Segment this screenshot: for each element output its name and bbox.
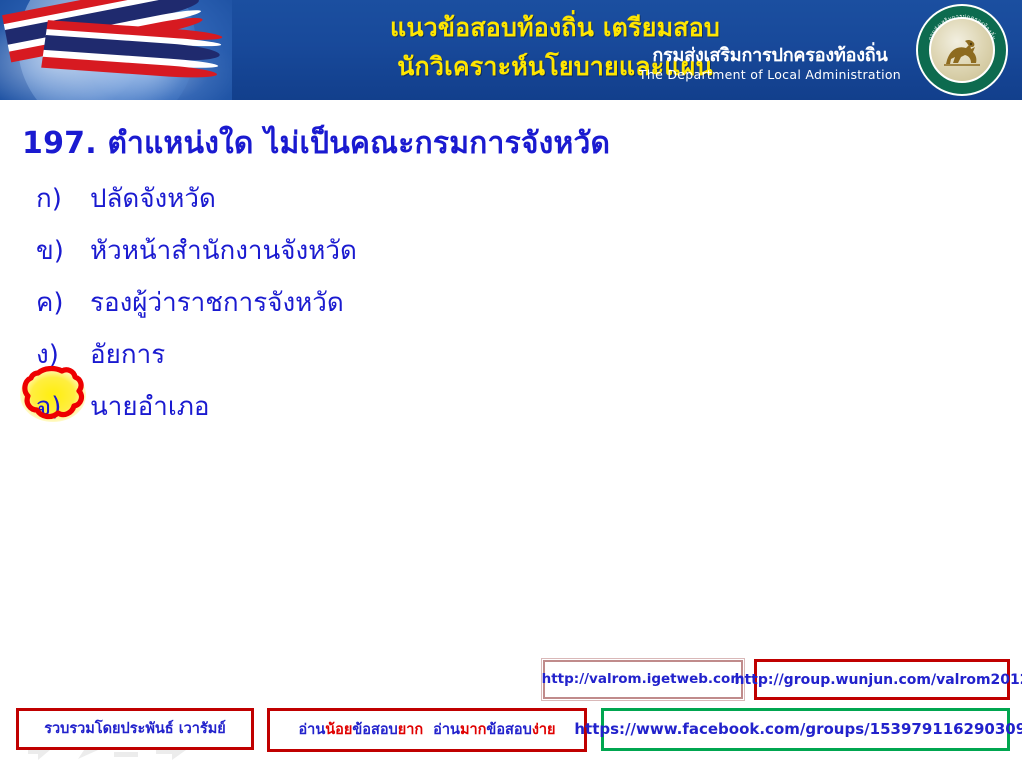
author-credit-text: รวบรวมโดยประพันธ์ เวารัมย์ bbox=[44, 722, 226, 737]
option-label-cho-text: จ) bbox=[36, 392, 61, 422]
banner-title-line1: แนวข้อสอบท้องถิ่น เตรียมสอบ bbox=[232, 8, 878, 47]
option-row-kho2[interactable]: ค) รองผู้ว่าราชการจังหวัด bbox=[36, 282, 736, 334]
motto-seg-5: อ่าน bbox=[433, 722, 460, 738]
option-label-ka: ก) bbox=[36, 178, 90, 219]
option-label-kho2: ค) bbox=[36, 282, 90, 323]
motto-seg-6: มาก bbox=[460, 722, 486, 738]
motto-text: อ่านน้อยข้อสอบยากอ่านมากข้อสอบง่าย bbox=[298, 723, 555, 738]
motto-seg-8: ง่าย bbox=[532, 722, 556, 738]
motto-seg-2: น้อย bbox=[325, 722, 352, 738]
department-label: กรมส่งเสริมการปกครองท้องถิ่น The Departm… bbox=[620, 44, 920, 83]
option-row-kho[interactable]: ข) หัวหน้าสำนักงานจังหวัด bbox=[36, 230, 736, 282]
option-text-ka: ปลัดจังหวัด bbox=[90, 178, 216, 219]
wunjun-group-url: http://group.wunjun.com/valrom2012 bbox=[734, 673, 1022, 687]
option-text-kho2: รองผู้ว่าราชการจังหวัด bbox=[90, 282, 344, 323]
slide-canvas: แนวข้อสอบท้องถิ่น เตรียมสอบ นักวิเคราะห์… bbox=[0, 0, 1022, 767]
department-name-thai: กรมส่งเสริมการปกครองท้องถิ่น bbox=[620, 44, 920, 67]
facebook-group-url: https://www.facebook.com/groups/15397911… bbox=[574, 722, 1022, 737]
motto-seg-4: ยาก bbox=[398, 722, 423, 738]
valrom-website-box[interactable]: http://valrom.igetweb.com bbox=[543, 660, 743, 699]
motto-box: อ่านน้อยข้อสอบยากอ่านมากข้อสอบง่าย bbox=[267, 708, 587, 752]
department-seal-icon: กรมส่งเสริมการปกครองท้องถิ่น DEPARTMENT … bbox=[916, 4, 1008, 96]
motto-seg-3: ข้อสอบ bbox=[352, 722, 397, 738]
option-text-ngo: อัยการ bbox=[90, 334, 165, 375]
option-row-cho[interactable]: จ) นายอำเภอ bbox=[36, 386, 736, 438]
wunjun-group-box[interactable]: http://group.wunjun.com/valrom2012 bbox=[754, 659, 1010, 700]
motto-seg-1: อ่าน bbox=[298, 722, 325, 738]
author-credit-box: รวบรวมโดยประพันธ์ เวารัมย์ bbox=[16, 708, 254, 750]
department-name-english: The Department of Local Administration bbox=[620, 67, 920, 83]
option-text-cho: นายอำเภอ bbox=[90, 386, 209, 427]
options-list: ก) ปลัดจังหวัด ข) หัวหน้าสำนักงานจังหวัด… bbox=[36, 178, 736, 438]
option-row-ngo[interactable]: ง) อัยการ bbox=[36, 334, 736, 386]
facebook-group-box[interactable]: https://www.facebook.com/groups/15397911… bbox=[601, 708, 1010, 751]
option-text-kho: หัวหน้าสำนักงานจังหวัด bbox=[90, 230, 357, 271]
question-title: 197. ตำแหน่งใด ไม่เป็นคณะกรมการจังหวัด bbox=[22, 120, 610, 167]
option-row-ka[interactable]: ก) ปลัดจังหวัด bbox=[36, 178, 736, 230]
option-label-cho: จ) bbox=[36, 386, 90, 427]
header-banner: แนวข้อสอบท้องถิ่น เตรียมสอบ นักวิเคราะห์… bbox=[0, 0, 1022, 100]
seal-medallion bbox=[929, 17, 995, 83]
motto-seg-7: ข้อสอบ bbox=[486, 722, 531, 738]
valrom-website-url: http://valrom.igetweb.com bbox=[542, 673, 745, 687]
option-label-kho: ข) bbox=[36, 230, 90, 271]
